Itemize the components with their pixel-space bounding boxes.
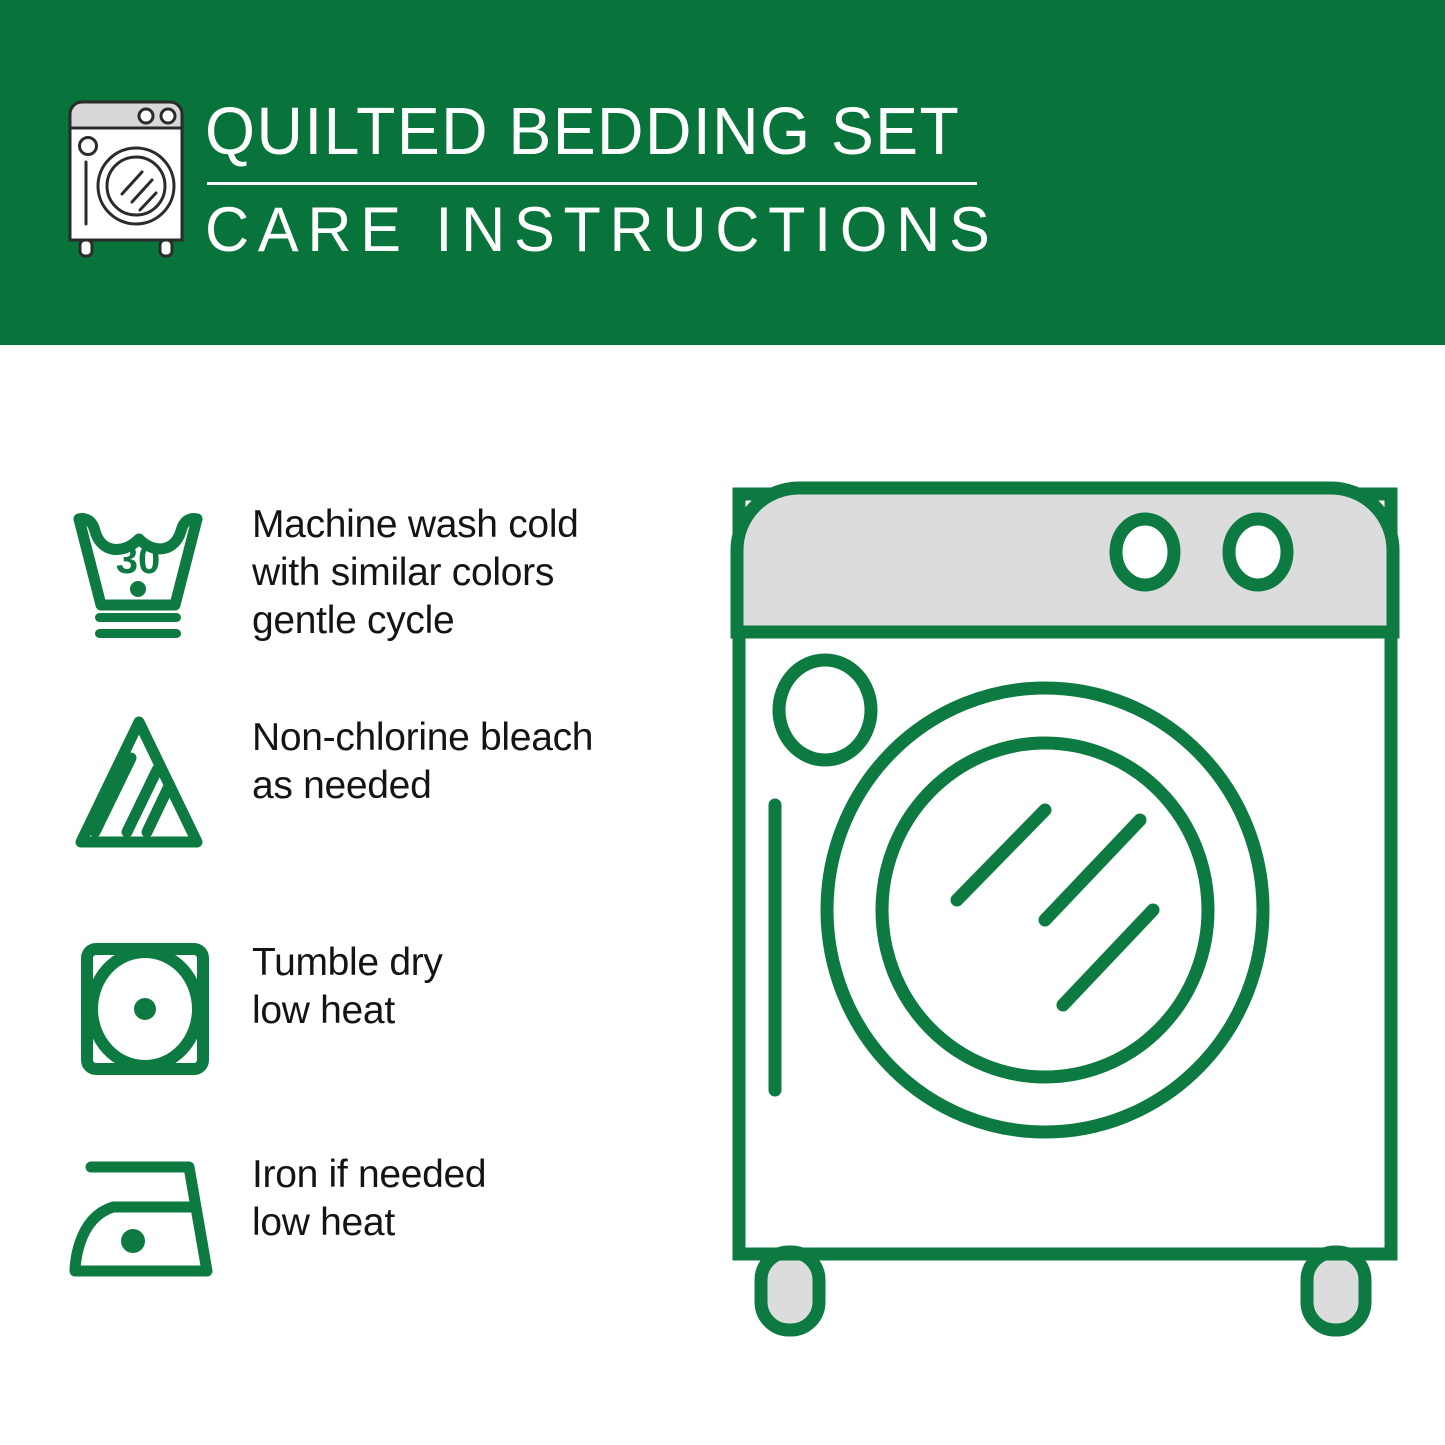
care-text-line: Tumble dry [252, 939, 443, 987]
knob-left [1116, 519, 1174, 585]
care-text: Iron if needed low heat [230, 1145, 486, 1247]
care-text-line: Iron if needed [252, 1151, 486, 1199]
leg-left [761, 1252, 819, 1330]
title-divider [207, 182, 977, 185]
non-chlorine-bleach-triangle-icon [60, 708, 230, 858]
care-row: 30 Machine wash cold with similar colors… [60, 495, 690, 645]
care-text: Machine wash cold with similar colors ge… [230, 495, 579, 645]
small-dial [779, 660, 871, 760]
care-text-line: with similar colors [252, 549, 579, 597]
care-row: Tumble dry low heat [60, 933, 690, 1083]
front-load-washing-machine-illustration [715, 470, 1415, 1360]
page-subtitle: CARE INSTRUCTIONS [205, 193, 971, 267]
care-instruction-list: 30 Machine wash cold with similar colors… [0, 345, 700, 1445]
care-text-line: gentle cycle [252, 597, 579, 645]
care-text-line: Machine wash cold [252, 501, 579, 549]
care-row: Non-chlorine bleach as needed [60, 708, 690, 858]
tumble-dry-low-heat-icon [60, 933, 230, 1083]
control-panel [737, 488, 1393, 632]
wash-basin-30-gentle-icon: 30 [60, 495, 230, 645]
knob-right [1229, 519, 1287, 585]
care-text-line: low heat [252, 987, 443, 1035]
care-text-line: low heat [252, 1199, 486, 1247]
page-title: QUILTED BEDDING SET [205, 92, 963, 172]
iron-low-heat-icon [60, 1145, 230, 1295]
washing-machine-icon [62, 98, 194, 260]
wash-temperature-label: 30 [116, 538, 161, 582]
care-text: Tumble dry low heat [230, 933, 443, 1035]
header-banner: QUILTED BEDDING SET CARE INSTRUCTIONS [0, 0, 1445, 345]
header-text-block: QUILTED BEDDING SET CARE INSTRUCTIONS [205, 92, 995, 267]
care-text-line: Non-chlorine bleach [252, 714, 593, 762]
care-instructions-infographic: QUILTED BEDDING SET CARE INSTRUCTIONS 30 [0, 0, 1445, 1445]
care-row: Iron if needed low heat [60, 1145, 690, 1295]
care-text-line: as needed [252, 762, 593, 810]
leg-right [1307, 1252, 1365, 1330]
care-text: Non-chlorine bleach as needed [230, 708, 593, 810]
